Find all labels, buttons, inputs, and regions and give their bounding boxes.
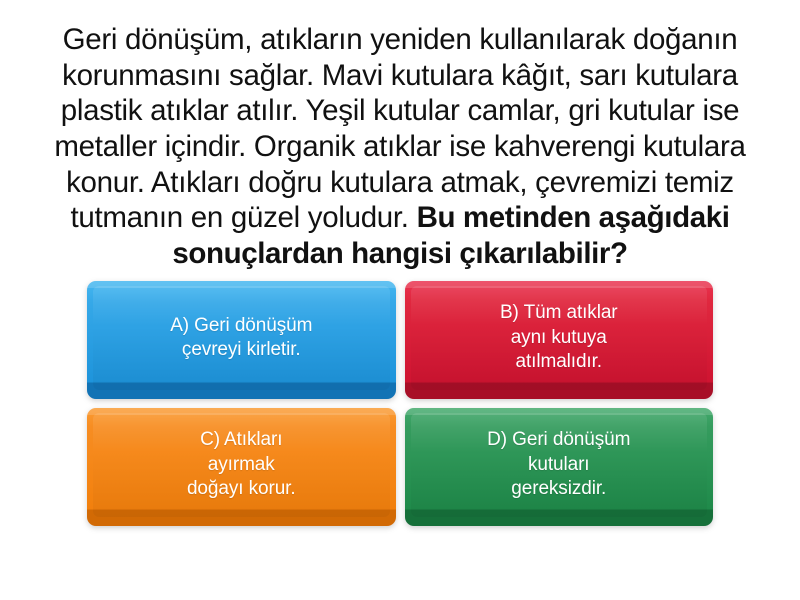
- answer-option-c-label: C) Atıkları ayırmak doğayı korur.: [173, 424, 310, 509]
- answers-grid: A) Geri dönüşüm çevreyi kirletir. B) Tüm…: [87, 281, 713, 526]
- answer-option-d[interactable]: D) Geri dönüşüm kutuları gereksizdir.: [405, 408, 714, 526]
- answer-option-a-label: A) Geri dönüşüm çevreyi kirletir.: [156, 310, 326, 371]
- answer-option-b-label: B) Tüm atıklar aynı kutuya atılmalıdır.: [486, 297, 632, 382]
- answers-area: A) Geri dönüşüm çevreyi kirletir. B) Tüm…: [0, 272, 800, 600]
- question-block: Geri dönüşüm, atıkların yeniden kullanıl…: [0, 0, 800, 272]
- answer-option-a[interactable]: A) Geri dönüşüm çevreyi kirletir.: [87, 281, 396, 399]
- answer-option-b[interactable]: B) Tüm atıklar aynı kutuya atılmalıdır.: [405, 281, 714, 399]
- answer-option-c[interactable]: C) Atıkları ayırmak doğayı korur.: [87, 408, 396, 526]
- quiz-screen: Geri dönüşüm, atıkların yeniden kullanıl…: [0, 0, 800, 600]
- question-text: Geri dönüşüm, atıkların yeniden kullanıl…: [48, 22, 752, 272]
- answer-option-d-label: D) Geri dönüşüm kutuları gereksizdir.: [473, 424, 644, 509]
